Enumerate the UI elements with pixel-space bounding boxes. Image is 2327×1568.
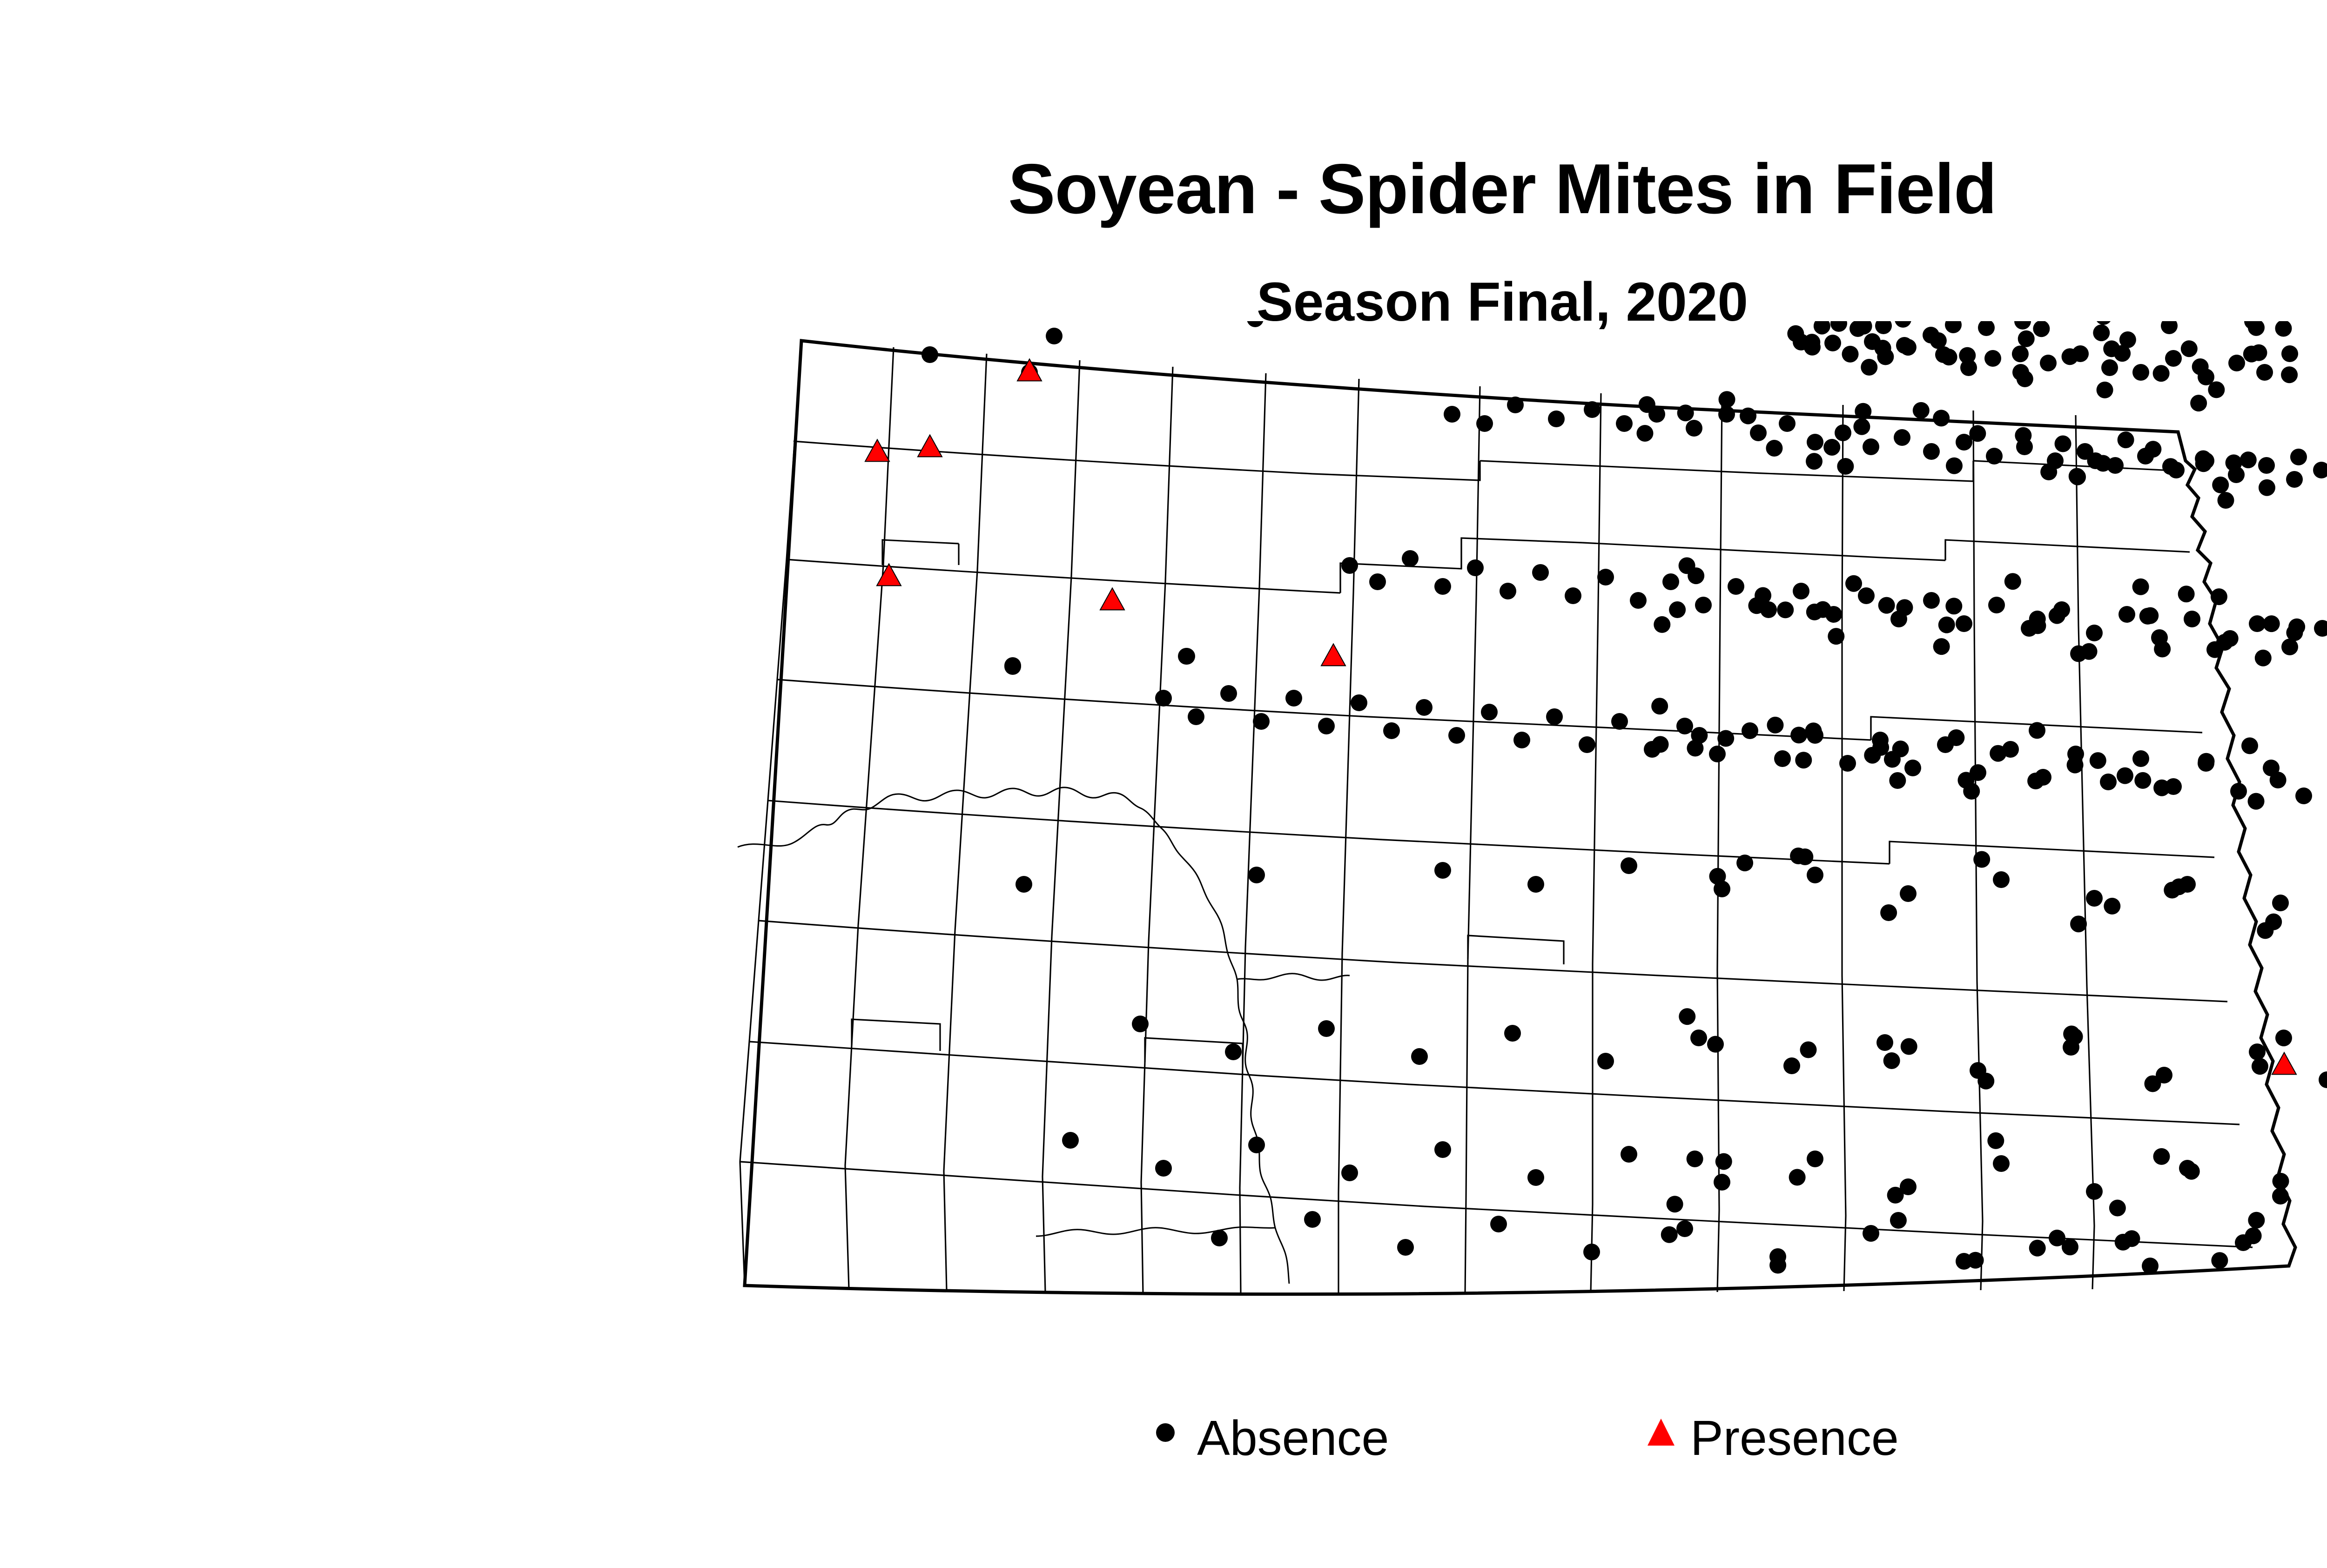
absence-marker [2062, 1238, 2078, 1255]
absence-marker [2288, 619, 2305, 635]
absence-marker [1957, 772, 1974, 788]
absence-marker [2245, 1227, 2262, 1244]
absence-marker [2123, 1230, 2140, 1247]
absence-marker [1247, 321, 1264, 327]
absence-marker [2230, 783, 2247, 800]
absence-marker [2095, 321, 2112, 325]
absence-marker [2248, 793, 2265, 810]
absence-marker [2017, 370, 2033, 387]
absence-marker [1855, 403, 1871, 420]
absence-marker [2154, 640, 2171, 657]
missouri-river-branch [1237, 974, 1350, 980]
absence-marker [2228, 355, 2245, 371]
absence-marker [1872, 739, 1889, 756]
absence-marker [1178, 648, 1195, 665]
absence-marker [2132, 750, 2149, 767]
absence-marker [1155, 690, 1172, 707]
absence-marker [2145, 441, 2161, 458]
absence-marker [1774, 750, 1791, 767]
absence-marker [1652, 736, 1669, 753]
absence-marker [1967, 1252, 1984, 1269]
absence-marker [1790, 848, 1807, 864]
absence-marker [1434, 578, 1451, 595]
absence-marker [1548, 411, 1565, 427]
north-dakota-county-map [698, 321, 2327, 1368]
absence-marker [1434, 1141, 1451, 1158]
absence-marker [2101, 359, 2118, 376]
absence-marker [1789, 1169, 1806, 1186]
absence-marker [2195, 450, 2212, 467]
absence-marker [1878, 597, 1895, 614]
absence-marker [1863, 1225, 1879, 1242]
absence-marker [2206, 641, 2223, 658]
absence-marker [2281, 366, 2298, 383]
absence-marker [2281, 639, 2298, 655]
presence-marker [918, 435, 942, 457]
absence-marker [1220, 685, 1237, 702]
absence-marker [1933, 638, 1950, 655]
absence-marker [2273, 1173, 2289, 1190]
absence-marker [1984, 350, 2001, 367]
absence-marker [2290, 449, 2307, 465]
absence-marker [1795, 752, 1812, 768]
absence-marker [2029, 611, 2046, 627]
absence-marker [2118, 431, 2134, 448]
absence-marker [1790, 727, 1807, 743]
absence-marker [1766, 440, 1782, 457]
absence-marker [1777, 601, 1794, 618]
absence-marker [2178, 585, 2195, 602]
absence-marker [2142, 1258, 2159, 1274]
absence-marker [1806, 604, 1823, 620]
absence-marker [1787, 325, 1804, 342]
absence-marker [1611, 713, 1628, 730]
chart-title: Soyean - Spider Mites in Field [0, 154, 2327, 224]
legend-label-absence: Absence [1197, 1401, 1389, 1475]
absence-marker [1779, 415, 1796, 432]
absence-marker [1513, 732, 1530, 748]
absence-marker [1679, 1008, 1695, 1025]
absence-marker [1621, 1146, 1637, 1163]
absence-marker [1830, 321, 1847, 332]
absence-marker [1933, 410, 1950, 426]
presence-marker [1100, 588, 1124, 610]
absence-marker [2183, 1163, 2200, 1180]
absence-marker [1583, 1244, 1600, 1260]
absence-circle-icon [1154, 1418, 1182, 1446]
absence-marker [2249, 1043, 2266, 1060]
absence-marker [2319, 1071, 2327, 1088]
absence-marker [2240, 451, 2257, 468]
absence-marker [1476, 415, 1493, 432]
absence-marker [2069, 469, 2086, 485]
absence-marker [1842, 346, 1859, 363]
absence-marker [1767, 717, 1783, 734]
absence-marker [1945, 598, 1962, 614]
absence-marker [1318, 718, 1335, 734]
absence-marker [2162, 458, 2179, 475]
absence-marker [1839, 755, 1856, 772]
absence-marker [2218, 492, 2234, 509]
absence-marker [1676, 1220, 1693, 1237]
absence-marker [1691, 727, 1708, 744]
absence-marker [1546, 708, 1563, 725]
absence-marker [1630, 592, 1647, 609]
absence-marker [2018, 330, 2035, 347]
absence-marker [2055, 436, 2071, 452]
absence-marker [1880, 904, 1897, 921]
absence-marker [1318, 1020, 1335, 1037]
absence-marker [1973, 851, 1990, 868]
legend: Absence Presence [0, 1401, 2327, 1503]
absence-marker [1858, 587, 1875, 604]
absence-marker [1188, 708, 1204, 725]
absence-marker [2249, 615, 2266, 632]
absence-marker [1892, 740, 1909, 757]
absence-marker [2241, 737, 2258, 754]
absence-marker [1304, 1211, 1321, 1228]
absence-marker [1945, 321, 1962, 333]
absence-marker [2295, 787, 2312, 804]
absence-marker [1806, 453, 1823, 470]
absence-marker [2081, 643, 2098, 660]
absence-marker [1913, 402, 1930, 419]
absence-marker [1690, 1030, 1707, 1046]
absence-marker [1679, 557, 1695, 574]
absence-marker [2270, 772, 2287, 788]
absence-marker [1467, 559, 1484, 576]
absence-marker [1714, 1174, 1730, 1191]
absence-marker [1793, 583, 1809, 599]
absence-marker [1930, 332, 1947, 349]
absence-marker [1783, 1057, 1800, 1074]
absence-marker [1481, 704, 1498, 720]
absence-marker [1904, 760, 1921, 776]
absence-marker [2033, 321, 2050, 337]
absence-marker [2250, 344, 2267, 361]
absence-marker [1709, 746, 1726, 762]
absence-marker [1807, 867, 1823, 883]
absence-marker [2117, 767, 2133, 784]
absence-marker [1750, 424, 1767, 441]
absence-marker [1956, 615, 1972, 632]
absence-marker [1923, 592, 1940, 609]
absence-marker [1986, 448, 2003, 464]
absence-marker [2029, 1240, 2046, 1257]
absence-marker [2272, 895, 2289, 911]
absence-marker [2258, 457, 2275, 474]
absence-marker [1444, 406, 1460, 423]
absence-marker [1707, 1036, 1724, 1053]
absence-marker [1046, 328, 1063, 344]
absence-marker [1900, 885, 1917, 902]
absence-marker [1988, 597, 2005, 613]
absence-marker [2259, 479, 2275, 496]
absence-marker [2029, 722, 2045, 739]
absence-marker [1941, 349, 1957, 365]
absence-marker [2211, 588, 2227, 605]
absence-marker [1434, 862, 1451, 879]
absence-marker [1719, 391, 1735, 408]
absence-marker [2134, 772, 2151, 789]
absence-marker [2119, 606, 2135, 623]
absence-marker [2275, 1030, 2292, 1046]
absence-marker [1828, 628, 1844, 645]
absence-marker [1654, 616, 1670, 633]
absence-marker [1662, 573, 1679, 590]
absence-marker [1835, 424, 1851, 441]
absence-marker [2171, 878, 2187, 895]
absence-marker [1677, 404, 1694, 421]
absence-marker [1155, 1160, 1172, 1177]
legend-label-presence: Presence [1690, 1401, 1899, 1475]
absence-marker [2132, 364, 2149, 381]
absence-marker [2062, 348, 2078, 365]
absence-marker [1993, 1155, 2010, 1172]
absence-marker [1369, 573, 1386, 590]
absence-marker [2248, 321, 2265, 336]
absence-marker [1805, 722, 1822, 739]
absence-marker [1500, 583, 1516, 599]
absence-marker [1225, 1043, 1242, 1060]
absence-marker [1527, 876, 1544, 893]
map-panel [698, 321, 2327, 1368]
presence-marker [2272, 1052, 2296, 1074]
absence-marker [1383, 722, 1400, 739]
absence-marker [1676, 718, 1693, 734]
absence-marker [2181, 340, 2198, 357]
absence-marker [2192, 358, 2209, 375]
absence-marker [1004, 658, 1021, 675]
absence-marker [2153, 1148, 2170, 1165]
absence-marker [2086, 625, 2103, 641]
absence-marker [1351, 694, 1367, 711]
absence-marker [1959, 347, 1976, 364]
absence-marker [1579, 736, 1595, 753]
absence-marker [2286, 471, 2303, 488]
absence-marker [2086, 890, 2103, 907]
absence-marker [2265, 914, 2282, 930]
absence-marker [1661, 1226, 1678, 1243]
absence-marker [2093, 324, 2110, 341]
lake-sakakawea-south [1036, 1227, 1275, 1236]
absence-marker [2015, 427, 2031, 444]
absence-marker [1715, 1153, 1732, 1170]
absence-marker [1448, 727, 1465, 744]
missouri-river [738, 787, 1289, 1284]
absence-marker [1890, 1212, 1907, 1229]
absence-marker [1889, 772, 1906, 789]
absence-marker [2211, 1252, 2228, 1269]
absence-marker [1687, 1151, 1703, 1167]
absence-marker [1863, 438, 1879, 455]
absence-marker [1490, 1216, 1507, 1232]
absence-marker [1016, 876, 1032, 893]
absence-marker [1861, 359, 1877, 376]
absence-marker [1803, 334, 1820, 350]
absence-marker [1402, 550, 1419, 567]
absence-marker [1686, 420, 1702, 437]
absence-marker [1597, 1053, 1614, 1070]
absence-marker [1397, 1239, 1414, 1256]
absence-marker [1823, 439, 1840, 456]
county-boundaries-layer [740, 341, 2253, 1294]
absence-marker [1616, 415, 1633, 432]
absence-marker [1211, 1230, 1228, 1246]
absence-marker [1938, 617, 1955, 633]
absence-marker [1709, 868, 1726, 885]
absence-marker [2165, 350, 2182, 367]
absence-marker [2313, 462, 2327, 478]
absence-marker [1969, 425, 1986, 442]
absence-marker [1651, 698, 1668, 714]
absence-marker [2067, 757, 2084, 774]
absence-marker [2012, 345, 2029, 362]
absence-marker [1755, 587, 1771, 604]
absence-marker [2040, 464, 2057, 480]
absence-marker [1504, 1025, 1521, 1042]
absence-marker [1807, 1151, 1823, 1167]
absence-marker [1946, 458, 1963, 474]
absence-marker [2144, 1075, 2161, 1092]
absence-marker [2087, 452, 2104, 469]
absence-marker [1990, 745, 2006, 762]
presence-marker [1321, 644, 1345, 666]
absence-marker [1887, 1187, 1904, 1204]
figure-root: Soyean - Spider Mites in Field Season Fi… [0, 0, 2327, 1568]
absence-marker [1900, 339, 1917, 356]
absence-marker [1993, 871, 2010, 888]
absence-marker [2184, 611, 2200, 627]
absence-marker [1062, 1132, 1079, 1149]
state-outline [745, 341, 2295, 1294]
absence-marker [1894, 429, 1910, 446]
absence-marker [2139, 608, 2156, 625]
absence-marker [1132, 1016, 1149, 1032]
absence-marker [1636, 425, 1653, 442]
absence-marker [1883, 1052, 1900, 1069]
absence-marker [2014, 321, 2031, 330]
absence-marker [2090, 752, 2106, 769]
absence-marker [1987, 1132, 2004, 1149]
absence-marker [2190, 395, 2207, 411]
absence-marker [1814, 321, 1830, 335]
absence-marker [1875, 321, 1892, 334]
absence-marker [2256, 364, 2273, 381]
absence-marker [1411, 1048, 1428, 1065]
absence-marker [1769, 1257, 1786, 1274]
absence-marker [1876, 1034, 1893, 1051]
absence-marker [1416, 699, 1433, 716]
absence-marker [1248, 867, 1265, 883]
absence-marker [2281, 345, 2298, 362]
absence-marker [1977, 1073, 1994, 1090]
absence-marker [1736, 855, 1753, 871]
absence-marker [1532, 564, 1549, 581]
absence-marker [2248, 1212, 2265, 1229]
absence-marker [1896, 599, 1913, 616]
presence-triangle-icon [1648, 1418, 1675, 1446]
absence-marker [2263, 615, 2280, 632]
absence-marker [1901, 1038, 1917, 1055]
absence-marker [1341, 1164, 1358, 1181]
absence-marker [1565, 587, 1581, 604]
absence-marker [1837, 458, 1854, 475]
absence-marker [1740, 408, 1756, 424]
absence-marker [2109, 1199, 2126, 1216]
map-outline-layer [745, 341, 2295, 1294]
absence-marker [2097, 382, 2113, 398]
absence-marker [1845, 575, 1862, 592]
absence-marker [1742, 722, 1758, 739]
absence-marker [2222, 630, 2239, 647]
absence-marker [1717, 730, 1734, 747]
absence-marker [2255, 650, 2272, 666]
absence-marker [2272, 1188, 2289, 1205]
absence-marker [2049, 607, 2065, 624]
absence-marker [2153, 780, 2170, 796]
absence-marker [921, 346, 938, 363]
absence-marker [2212, 477, 2229, 493]
absence-marker [2100, 774, 2117, 790]
absence-marker [1800, 1042, 1816, 1058]
absence-marker [1639, 396, 1655, 413]
absence-marker [1695, 597, 1712, 613]
absence-marker [1253, 713, 1270, 730]
absence-marker [2153, 365, 2170, 382]
absence-marker [2114, 345, 2131, 362]
absence-marker [1667, 1196, 1683, 1212]
absence-marker [2252, 1058, 2268, 1075]
absence-marker [2226, 454, 2242, 471]
absence-marker [1584, 401, 1601, 418]
absence-marker [2161, 321, 2178, 334]
absence-marker [2132, 579, 2149, 595]
absence-marker [1669, 601, 1686, 618]
absence-marker [2275, 321, 2292, 337]
absence-marker [1895, 321, 1911, 328]
absence-marker [2070, 915, 2087, 932]
absence-marker [2086, 1183, 2103, 1200]
presence-marker [865, 439, 889, 461]
absence-marker [1728, 578, 1744, 595]
absence-marker [1948, 729, 1964, 746]
absence-marker [1853, 418, 1870, 435]
absence-marker [1824, 335, 1841, 351]
absence-marker [2314, 620, 2327, 637]
absence-marker [1978, 321, 1995, 336]
absence-marker [2104, 898, 2120, 915]
absence-marker [1285, 690, 1302, 707]
absence-marker [1807, 434, 1823, 451]
absence-marker [1718, 406, 1735, 423]
absence-marker [1248, 1137, 1265, 1153]
absence-marker [2027, 773, 2044, 789]
absence-marker [1597, 569, 1614, 585]
absence-marker [2004, 573, 2021, 590]
absence-marker [2198, 753, 2214, 770]
absence-marker [1507, 397, 1524, 413]
absence-marker [2040, 355, 2057, 371]
absence-marker [1621, 857, 1637, 874]
absence-marker [1527, 1169, 1544, 1186]
absence-marker [1875, 340, 1891, 357]
absence-marker [2066, 1028, 2083, 1045]
absence-marker [2208, 381, 2225, 398]
absence-marker [1341, 557, 1358, 574]
absence-marker [1923, 443, 1940, 460]
